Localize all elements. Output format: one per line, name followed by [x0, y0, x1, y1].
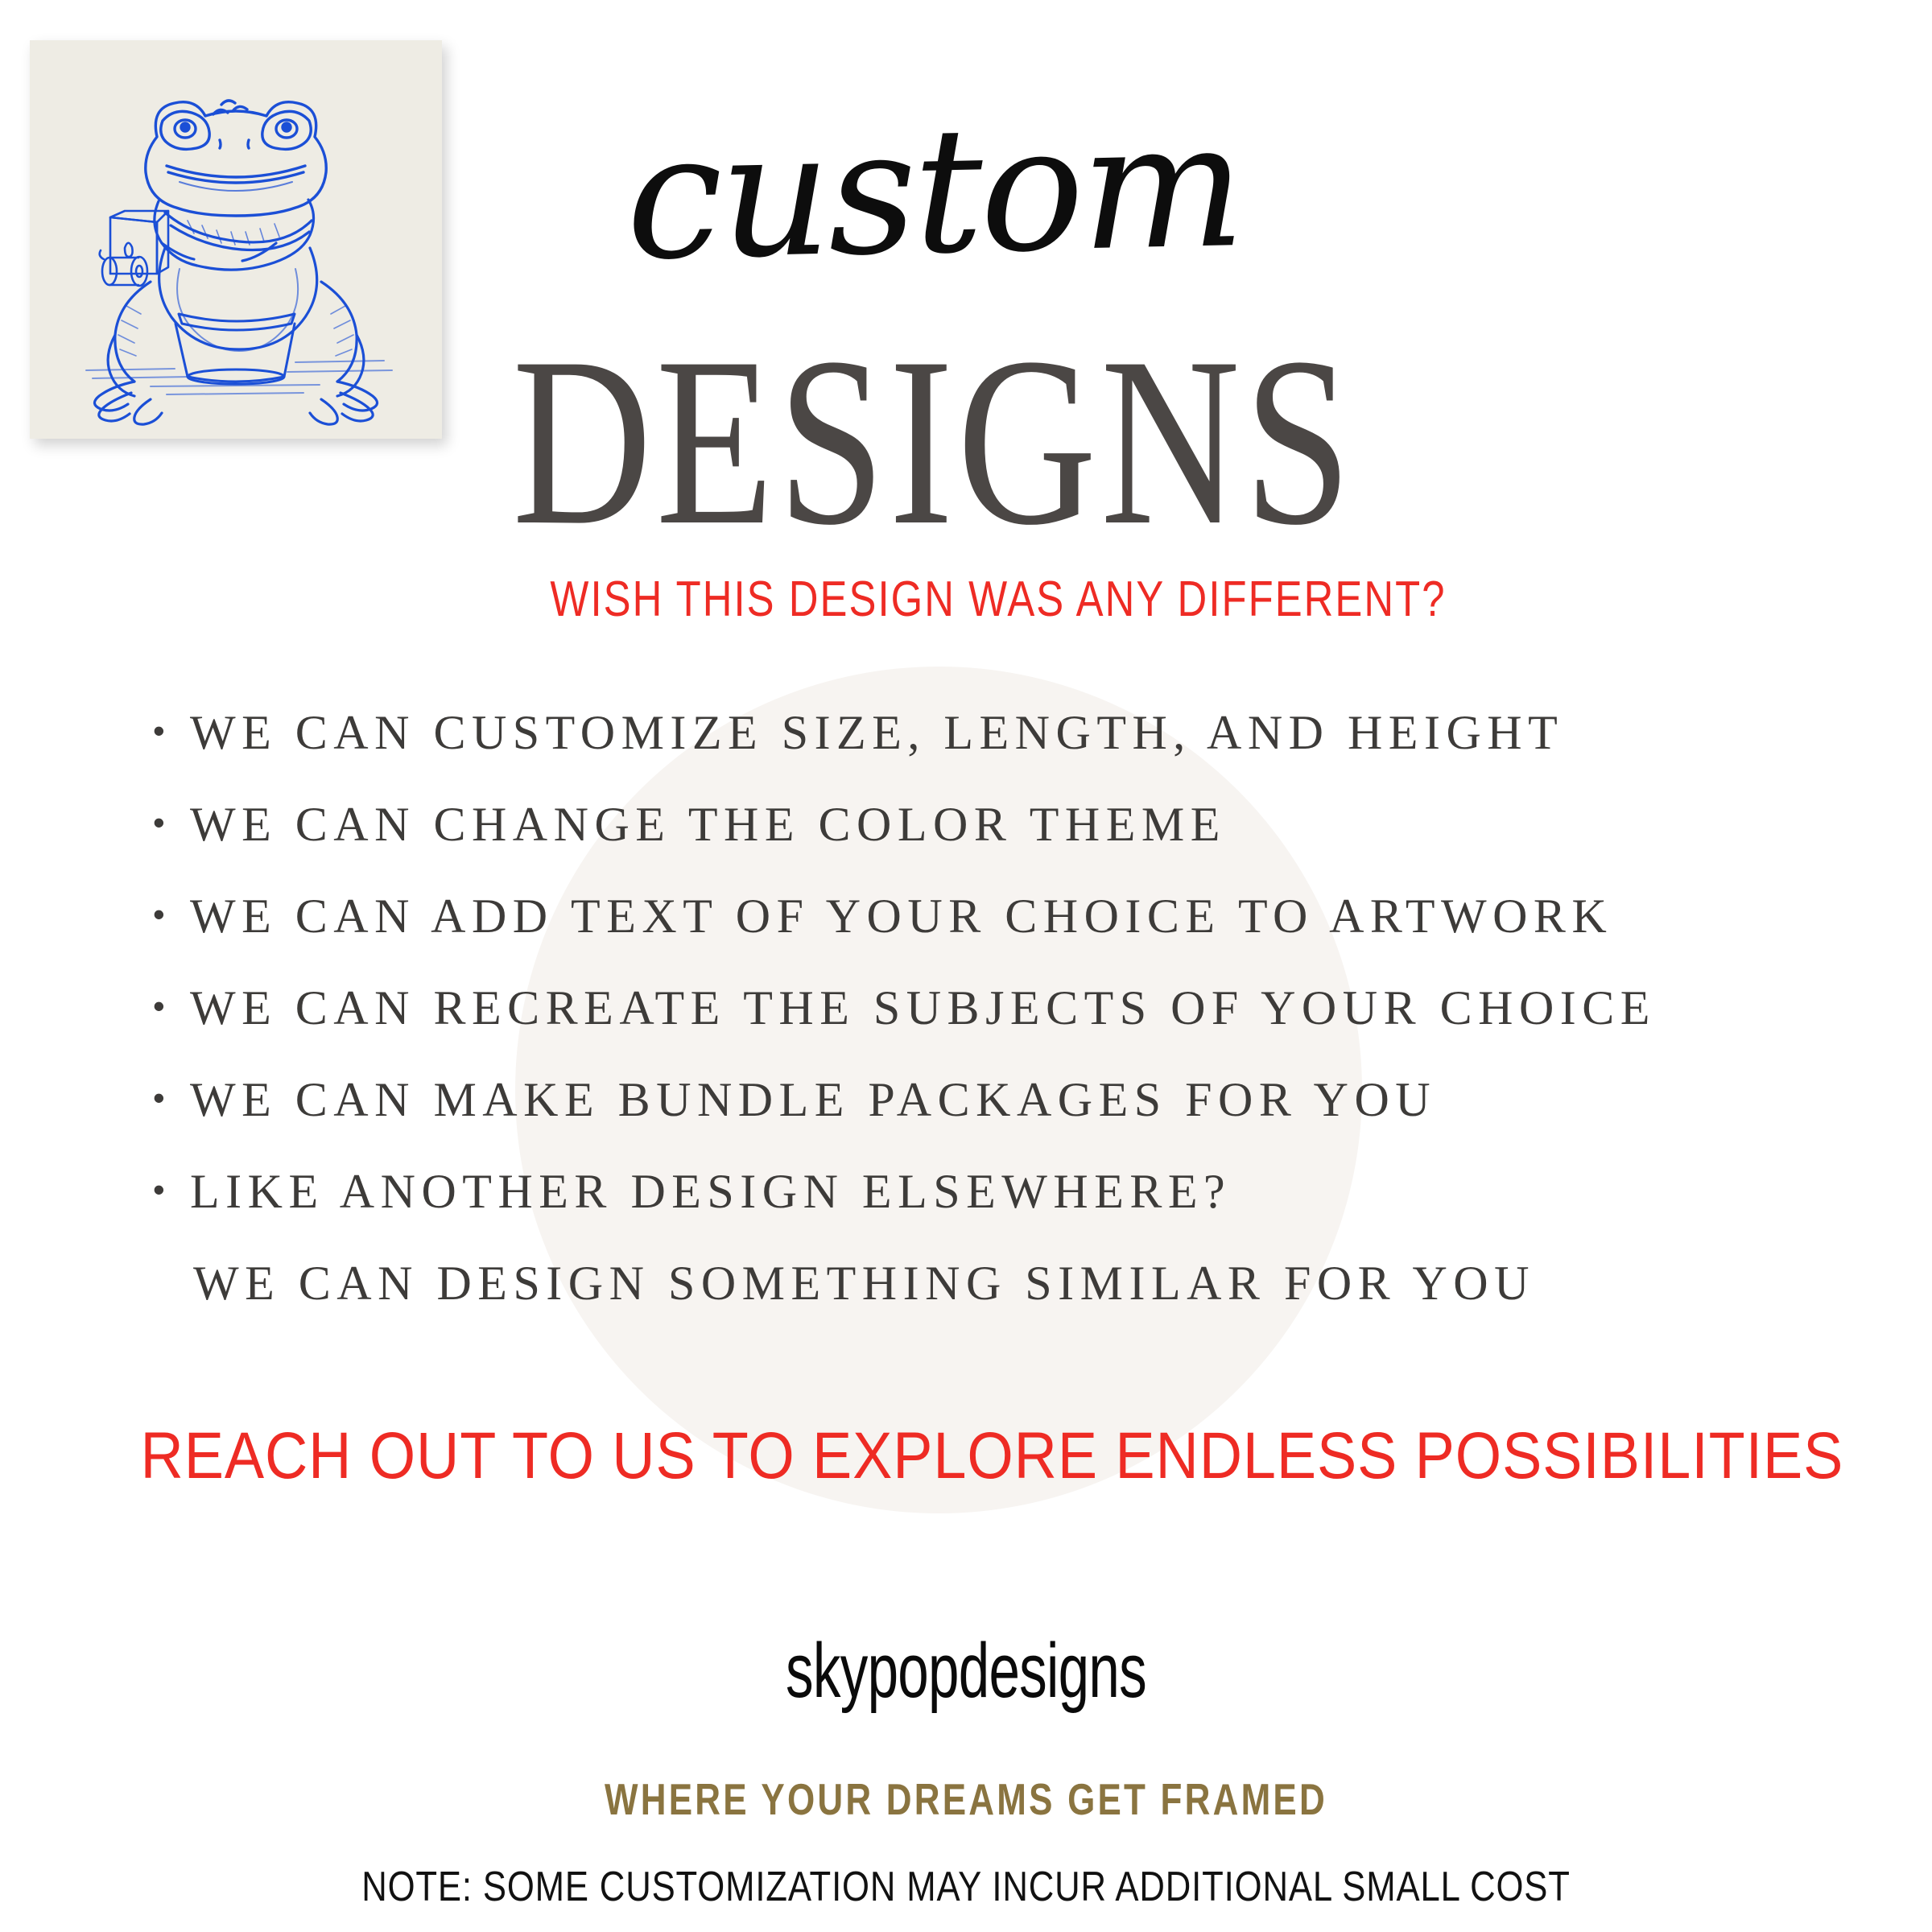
headline-serif-word: DESIGNS	[444, 320, 1423, 562]
subtitle-question: WISH THIS DESIGN WAS ANY DIFFERENT?	[378, 573, 1619, 625]
custom-designs-poster: custom DESIGNS WISH THIS DESIGN WAS ANY …	[0, 0, 1932, 1932]
footer-note: NOTE: SOME CUSTOMIZATION MAY INCUR ADDIT…	[155, 1866, 1777, 1908]
call-to-action-text: REACH OUT TO US TO EXPLORE ENDLESS POSSI…	[141, 1423, 1800, 1489]
bullet-dot-icon: •	[153, 989, 190, 1023]
artwork-thumbnail[interactable]	[30, 40, 442, 439]
brand-name: skypopdesigns	[270, 1633, 1662, 1710]
list-item: • WE CAN CUSTOMIZE SIZE, LENGTH, AND HEI…	[153, 708, 1860, 800]
list-item: • WE CAN CHANGE THE COLOR THEME	[153, 800, 1860, 892]
bullet-dot-icon: •	[153, 898, 190, 931]
bullet-dot-icon: •	[153, 806, 190, 840]
list-item-label: WE CAN CHANGE THE COLOR THEME	[190, 800, 1226, 848]
list-item: • WE CAN RECREATE THE SUBJECTS OF YOUR C…	[153, 984, 1860, 1075]
list-item-label: WE CAN RECREATE THE SUBJECTS OF YOUR CHO…	[190, 984, 1656, 1032]
frog-on-toilet-sketch-icon	[30, 40, 442, 439]
capabilities-list: • WE CAN CUSTOMIZE SIZE, LENGTH, AND HEI…	[153, 708, 1860, 1351]
list-item-continuation: WE CAN DESIGN SOMETHING SIMILAR FOR YOU	[153, 1259, 1860, 1351]
list-item-label: LIKE ANOTHER DESIGN ELSEWHERE?	[190, 1167, 1231, 1216]
list-item: • LIKE ANOTHER DESIGN ELSEWHERE?	[153, 1167, 1860, 1259]
list-item-label: WE CAN CUSTOMIZE SIZE, LENGTH, AND HEIGH…	[190, 708, 1563, 757]
list-item-label: WE CAN ADD TEXT OF YOUR CHOICE TO ARTWOR…	[190, 892, 1612, 940]
list-item: • WE CAN MAKE BUNDLE PACKAGES FOR YOU	[153, 1075, 1860, 1167]
bullet-dot-icon: •	[153, 1173, 190, 1207]
headline-script-word: custom	[497, 96, 1370, 287]
brand-tagline: WHERE YOUR DREAMS GET FRAMED	[193, 1777, 1739, 1822]
list-item: • WE CAN ADD TEXT OF YOUR CHOICE TO ARTW…	[153, 892, 1860, 984]
bullet-dot-icon: •	[153, 1081, 190, 1115]
list-item-continuation-label: WE CAN DESIGN SOMETHING SIMILAR FOR YOU	[193, 1259, 1535, 1307]
list-item-label: WE CAN MAKE BUNDLE PACKAGES FOR YOU	[190, 1075, 1436, 1124]
bullet-dot-icon: •	[153, 714, 190, 748]
